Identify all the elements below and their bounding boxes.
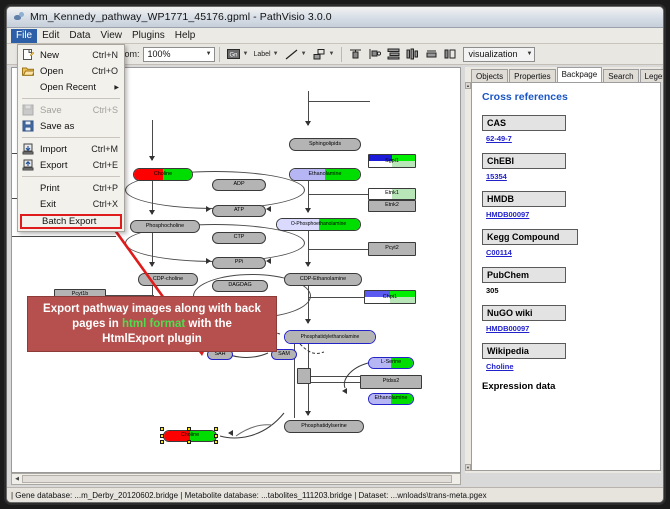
xref-value-pubchem: 305	[482, 286, 654, 295]
tab-legend[interactable]: Legend	[640, 69, 664, 82]
group-icon[interactable]	[423, 46, 440, 62]
xref-value-kegg-compound[interactable]: C00114	[482, 248, 654, 257]
xref-value-chebi[interactable]: 15354	[482, 172, 654, 181]
xref-value-wikipedia[interactable]: Choline	[482, 362, 654, 371]
menu-help[interactable]: Help	[170, 29, 201, 43]
save-as-icon	[22, 120, 34, 132]
menu-item-open-recent[interactable]: Open Recent ▶	[18, 79, 124, 95]
cross-references-title: Cross references	[482, 91, 654, 103]
tab-search[interactable]: Search	[603, 69, 638, 82]
chevron-down-icon: ▼	[523, 51, 533, 57]
menu-plugins[interactable]: Plugins	[127, 29, 170, 43]
backpage-panel: Cross references CAS 62-49-7 ChEBI 15354…	[471, 82, 661, 471]
tab-backpage[interactable]: Backpage	[557, 67, 603, 82]
xref-value-cas[interactable]: 62-49-7	[482, 134, 654, 143]
menu-bar: File Edit Data View Plugins Help	[7, 28, 664, 44]
stack-icon[interactable]	[404, 46, 421, 62]
line-icon[interactable]	[283, 46, 300, 62]
zoom-value: 100%	[148, 49, 171, 59]
menu-file[interactable]: File	[11, 29, 37, 43]
tab-properties[interactable]: Properties	[509, 69, 555, 82]
datanode-icon[interactable]: Gn	[225, 46, 242, 62]
chevron-down-icon[interactable]: ▼	[301, 51, 307, 57]
menu-item-export[interactable]: Export Ctrl+E	[18, 157, 124, 173]
menu-data[interactable]: Data	[64, 29, 95, 43]
zoom-combo[interactable]: 100% ▼	[143, 47, 215, 62]
title-bar: Mm_Kennedy_pathway_WP1771_45176.gpml - P…	[7, 7, 664, 28]
distribute-icon[interactable]	[385, 46, 402, 62]
status-text: | Gene database: ...m_Derby_20120602.bri…	[11, 491, 487, 500]
pathvisio-window: Mm_Kennedy_pathway_WP1771_45176.gpml - P…	[6, 6, 664, 503]
menu-separator	[22, 137, 120, 138]
scroll-left-icon[interactable]: ◀	[12, 474, 22, 484]
visualization-combo[interactable]: visualization ▼	[463, 47, 535, 62]
menu-item-print[interactable]: Print Ctrl+P	[18, 180, 124, 196]
order-icon[interactable]	[442, 46, 459, 62]
menu-item-save-as[interactable]: Save as	[18, 118, 124, 134]
menu-separator	[22, 176, 120, 177]
canvas-horizontal-scrollbar[interactable]: ◀	[11, 473, 461, 485]
align-top-icon[interactable]	[347, 46, 364, 62]
side-panel: Objects Properties Backpage Search Legen…	[465, 67, 661, 473]
callout-line-1: Export pathway images along with back	[43, 302, 261, 317]
chevron-down-icon: ▼	[202, 51, 212, 57]
menu-item-exit[interactable]: Exit Ctrl+X	[18, 196, 124, 212]
menu-item-import[interactable]: Import Ctrl+M	[18, 141, 124, 157]
new-file-icon	[22, 49, 34, 61]
callout-line-3: HtmlExport plugin	[102, 332, 202, 347]
menu-edit[interactable]: Edit	[37, 29, 64, 43]
menu-item-open[interactable]: Open Ctrl+O	[18, 63, 124, 79]
chevron-down-icon[interactable]: ▼	[329, 51, 335, 57]
menu-separator	[22, 98, 120, 99]
xref-header-kegg-compound: Kegg Compound	[482, 229, 578, 245]
xref-header-pubchem: PubChem	[482, 267, 566, 283]
visualization-value: visualization	[468, 49, 517, 59]
save-icon	[22, 104, 34, 116]
status-bar: | Gene database: ...m_Derby_20120602.bri…	[7, 487, 664, 502]
expression-data-title: Expression data	[482, 381, 654, 392]
xref-header-nugo-wiki: NuGO wiki	[482, 305, 566, 321]
xref-header-wikipedia: Wikipedia	[482, 343, 566, 359]
menu-view[interactable]: View	[95, 29, 127, 43]
panel-tabstrip: Objects Properties Backpage Search Legen…	[471, 67, 661, 82]
export-icon	[22, 159, 34, 171]
chevron-down-icon[interactable]: ▼	[243, 51, 249, 57]
callout-annotation: Export pathway images along with back pa…	[27, 296, 277, 352]
shape-icon[interactable]	[311, 46, 328, 62]
scrollbar-thumb[interactable]	[22, 475, 452, 483]
menu-item-batch-export[interactable]: Batch Export	[20, 214, 122, 229]
menu-item-new[interactable]: New Ctrl+N	[18, 47, 124, 63]
callout-highlight: html format	[122, 318, 185, 330]
xref-header-chebi: ChEBI	[482, 153, 566, 169]
pathvisio-icon	[13, 11, 25, 23]
xref-header-hmdb: HMDB	[482, 191, 566, 207]
submenu-arrow-icon: ▶	[114, 84, 119, 91]
xref-value-nugo-wiki[interactable]: HMDB00097	[482, 324, 654, 333]
callout-line-2: pages in html format with the	[72, 317, 232, 332]
label-button[interactable]: Label	[251, 51, 272, 58]
menu-item-save: Save Ctrl+S	[18, 102, 124, 118]
xref-value-hmdb[interactable]: HMDB00097	[482, 210, 654, 219]
tab-objects[interactable]: Objects	[471, 69, 508, 82]
svg-text:Gn: Gn	[229, 53, 237, 59]
align-left-icon[interactable]	[366, 46, 383, 62]
xref-header-cas: CAS	[482, 115, 566, 131]
import-icon	[22, 143, 34, 155]
window-title: Mm_Kennedy_pathway_WP1771_45176.gpml - P…	[30, 11, 332, 23]
file-menu-dropdown: New Ctrl+N Open Ctrl+O Open Recent ▶ Sav…	[17, 44, 125, 232]
folder-open-icon	[22, 65, 34, 77]
chevron-down-icon[interactable]: ▼	[273, 51, 279, 57]
